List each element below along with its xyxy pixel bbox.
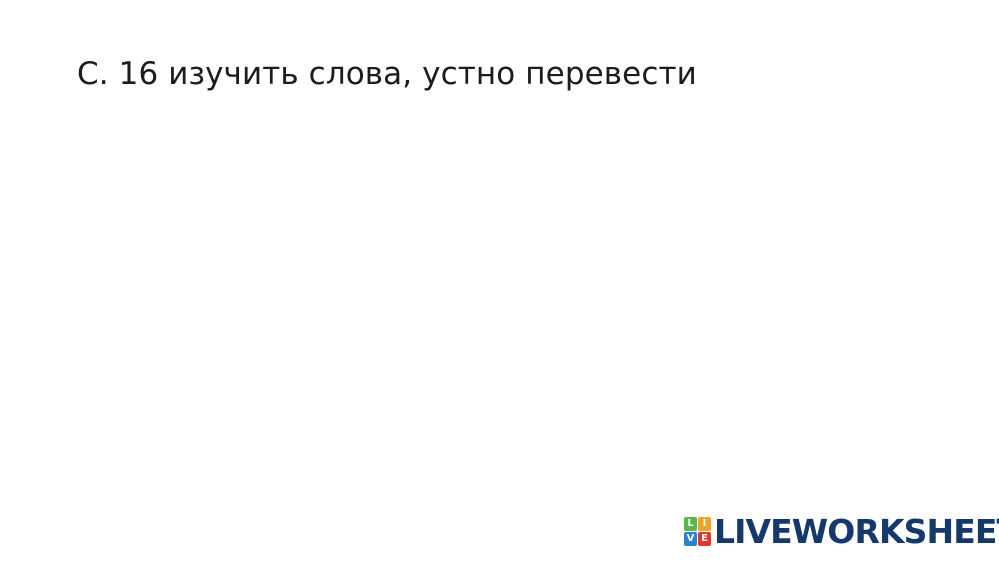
logo-wordmark: LIVEWORKSHEETS — [714, 515, 999, 548]
page-title: С. 16 изучить слова, устно перевести — [77, 56, 939, 94]
logo-tile-l: L — [684, 517, 697, 531]
liveworksheets-logo[interactable]: L I V E LIVEWORKSHEETS — [684, 515, 999, 548]
logo-tile-v: V — [684, 532, 697, 546]
slide-canvas: С. 16 изучить слова, устно перевести L I… — [0, 0, 999, 562]
logo-tile-grid: L I V E — [684, 517, 711, 546]
logo-tile-i: I — [698, 517, 711, 531]
slide-body: С. 16 изучить слова, устно перевести — [77, 56, 939, 94]
logo-tile-e: E — [698, 532, 711, 546]
